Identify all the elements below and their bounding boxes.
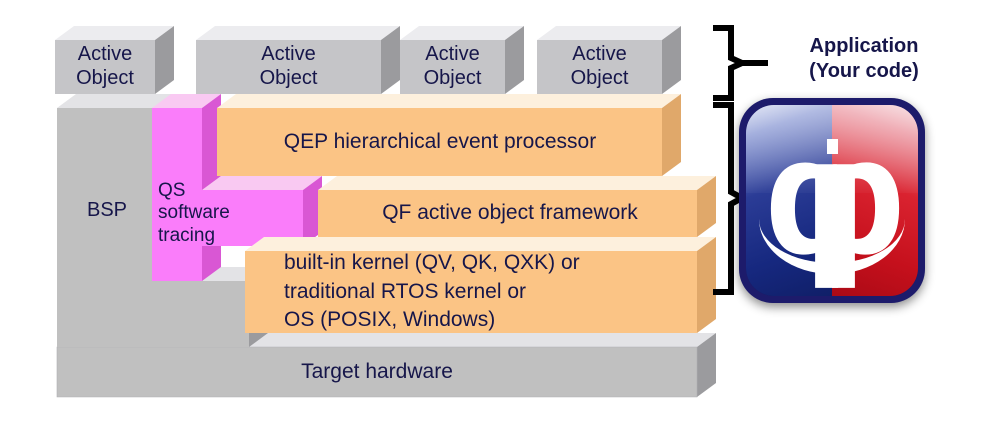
qep-block bbox=[217, 94, 681, 176]
application-brace bbox=[713, 28, 768, 98]
architecture-diagram: Active Object Active Object Active Objec… bbox=[0, 0, 1000, 421]
active-object-1-block bbox=[55, 26, 174, 94]
active-object-4-block bbox=[537, 26, 681, 94]
qp-logo-inner: q p bbox=[746, 105, 918, 296]
active-object-2-block bbox=[196, 26, 400, 94]
active-object-3-block bbox=[400, 26, 524, 94]
application-annotation-label: Application (Your code) bbox=[764, 34, 964, 84]
qf-block bbox=[318, 176, 716, 237]
kernel-block bbox=[245, 237, 716, 333]
qp-logo: q p bbox=[739, 98, 925, 303]
